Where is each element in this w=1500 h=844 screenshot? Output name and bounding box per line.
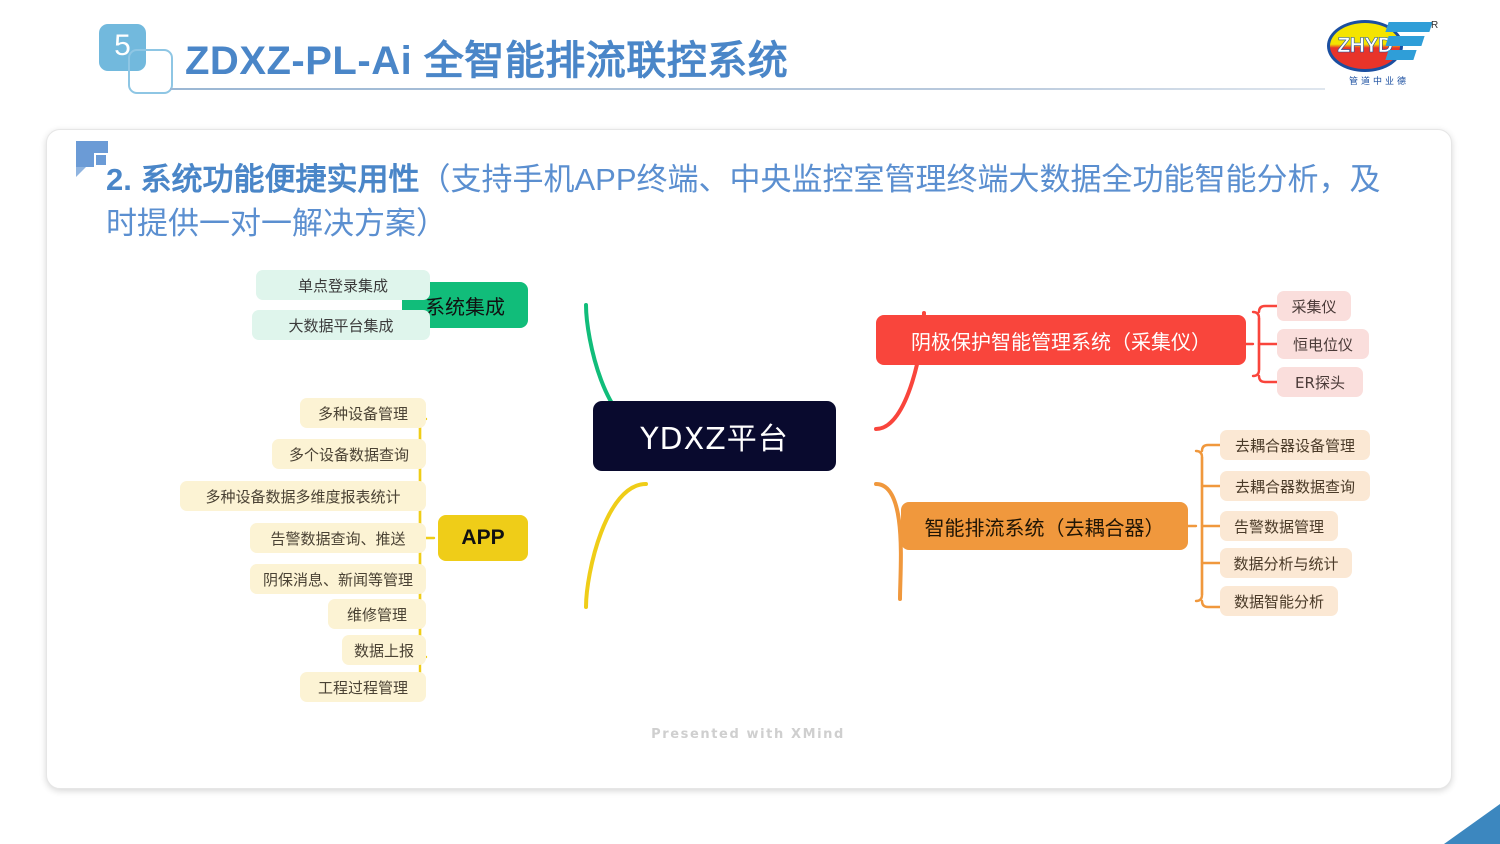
logo-stripes-icon — [1387, 22, 1431, 70]
mindmap-root-node[interactable]: YDXZ平台 — [593, 401, 836, 471]
corner-triangle-decoration — [1444, 804, 1500, 844]
mindmap-branch-smart-drainage[interactable]: 智能排流系统（去耦合器） — [901, 502, 1188, 550]
mindmap-leaf-app-1[interactable]: 多种设备管理 — [300, 398, 426, 428]
mindmap-leaf-sso[interactable]: 单点登录集成 — [256, 270, 430, 300]
mindmap-branch-app[interactable]: APP — [438, 515, 528, 561]
registered-mark: R — [1431, 20, 1438, 31]
mindmap-leaf-er-probe[interactable]: ER探头 — [1277, 367, 1363, 397]
mindmap-leaf-collector[interactable]: 采集仪 — [1277, 291, 1351, 321]
mindmap-branch-cathodic-protection[interactable]: 阴极保护智能管理系统（采集仪） — [876, 315, 1246, 365]
mindmap-leaf-drainage-2[interactable]: 去耦合器数据查询 — [1220, 471, 1370, 501]
xmind-watermark: Presented with XMind — [46, 727, 1450, 742]
page-title: ZDXZ-PL-Ai 全智能排流联控系统 — [185, 28, 788, 86]
slide: 5 ZDXZ-PL-Ai 全智能排流联控系统 ZHYD R 管道中业德 2. 系… — [0, 0, 1500, 844]
company-logo: ZHYD R 管道中业德 — [1327, 12, 1445, 90]
mindmap-leaf-drainage-1[interactable]: 去耦合器设备管理 — [1220, 430, 1370, 460]
mindmap-leaf-app-5[interactable]: 阴保消息、新闻等管理 — [250, 564, 426, 594]
mindmap-leaf-app-7[interactable]: 数据上报 — [342, 635, 426, 665]
mindmap-leaf-drainage-5[interactable]: 数据智能分析 — [1220, 586, 1338, 616]
mindmap-leaf-potentiostat[interactable]: 恒电位仪 — [1277, 329, 1369, 359]
logo-subtext: 管道中业德 — [1327, 74, 1431, 87]
header-divider — [170, 88, 1325, 90]
mindmap-leaf-app-4[interactable]: 告警数据查询、推送 — [250, 523, 426, 553]
mindmap-leaf-app-8[interactable]: 工程过程管理 — [300, 672, 426, 702]
slide-number-badge-outline — [128, 49, 173, 94]
mindmap-leaf-drainage-3[interactable]: 告警数据管理 — [1220, 511, 1338, 541]
mindmap: YDXZ平台 系统集成 单点登录集成 大数据平台集成 APP 多种设备管理 多个… — [46, 129, 1450, 787]
mindmap-leaf-app-6[interactable]: 维修管理 — [328, 599, 426, 629]
mindmap-leaf-app-2[interactable]: 多个设备数据查询 — [272, 439, 426, 469]
mindmap-leaf-drainage-4[interactable]: 数据分析与统计 — [1220, 548, 1352, 578]
mindmap-leaf-app-3[interactable]: 多种设备数据多维度报表统计 — [180, 481, 426, 511]
mindmap-leaf-bigdata-platform[interactable]: 大数据平台集成 — [252, 310, 430, 340]
